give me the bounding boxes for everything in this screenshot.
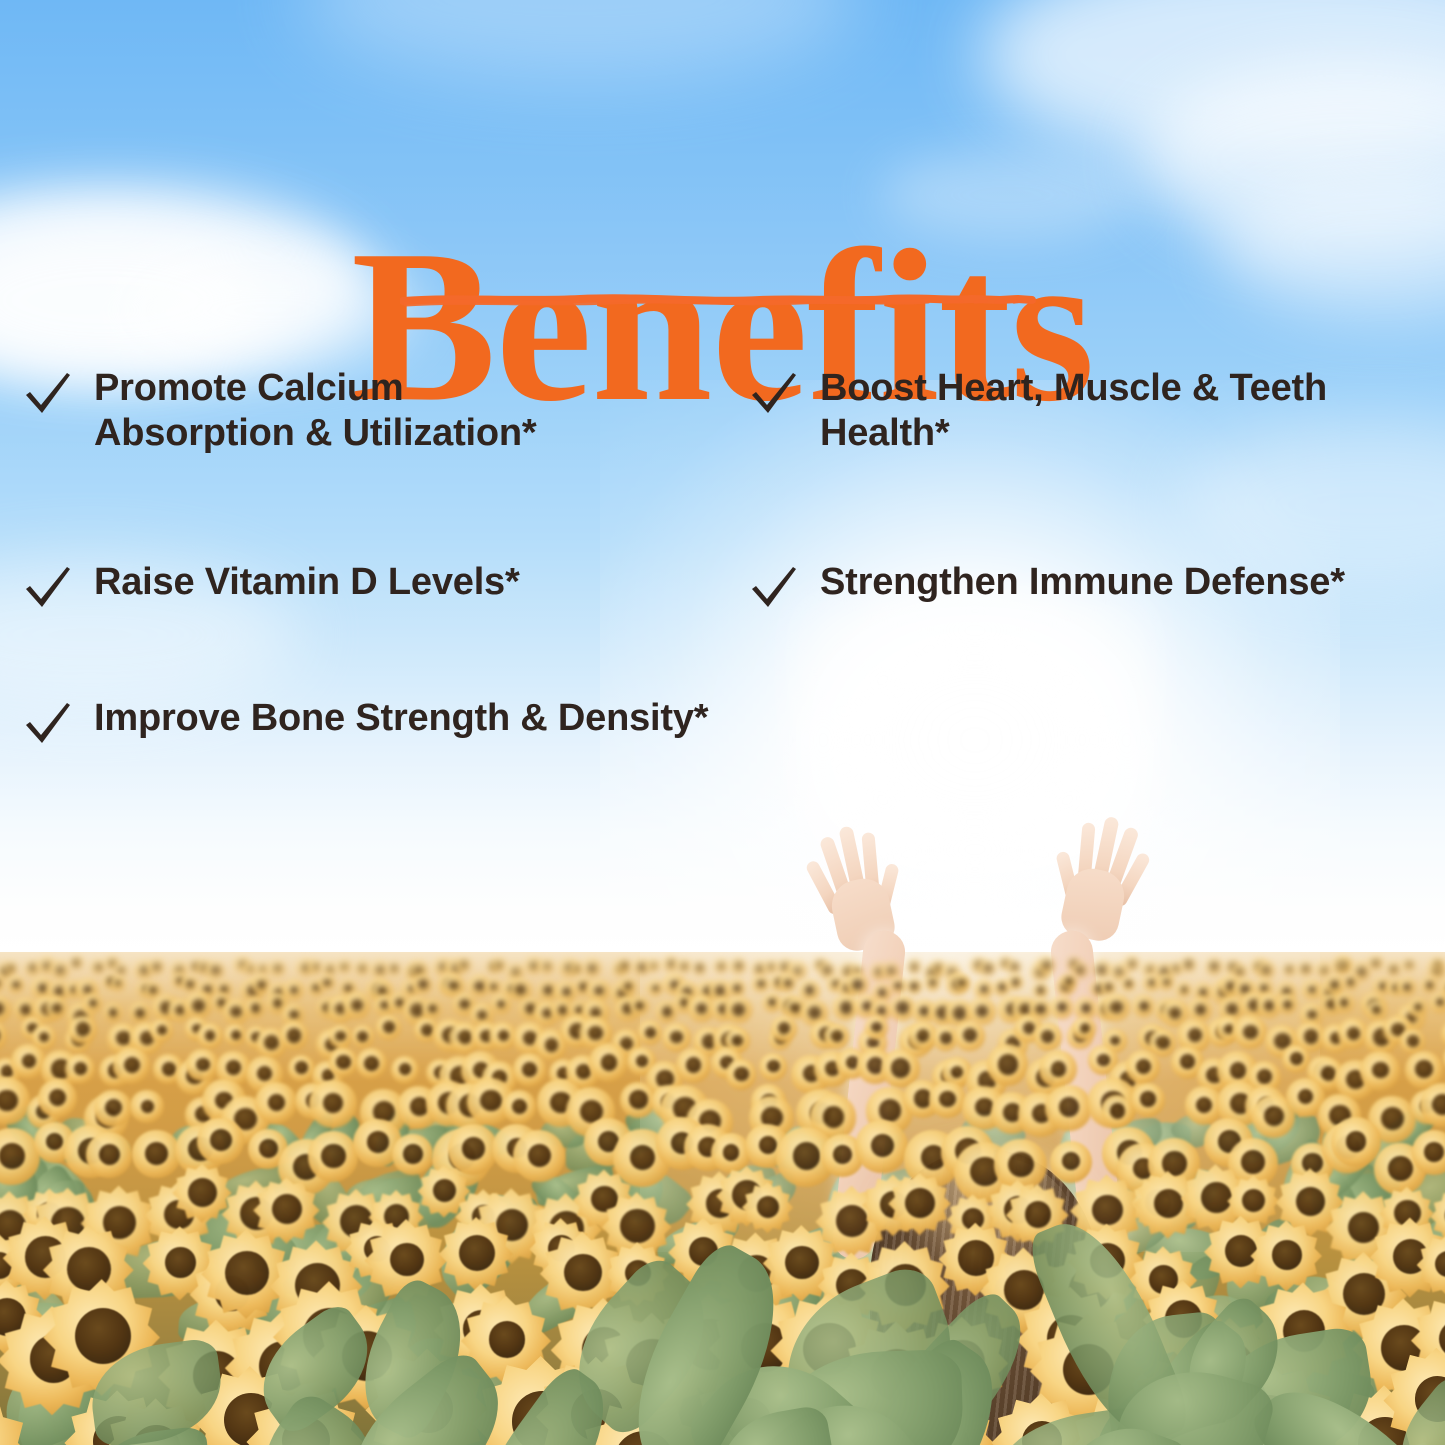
sunflower-center bbox=[887, 967, 894, 974]
sunflower-center bbox=[1340, 998, 1348, 1006]
sunflower-center bbox=[1304, 1029, 1318, 1043]
sunflower-center bbox=[871, 1022, 881, 1032]
sunflower bbox=[392, 1134, 433, 1175]
sunflower-center bbox=[1076, 966, 1083, 973]
sunflower bbox=[70, 956, 83, 969]
sunflower-center bbox=[1051, 1061, 1067, 1077]
cloud bbox=[300, 0, 860, 80]
sunflower-center bbox=[831, 1030, 843, 1042]
right-hand bbox=[1046, 800, 1155, 935]
sunflower bbox=[728, 979, 745, 996]
sunflower bbox=[308, 1131, 358, 1181]
sunflower bbox=[255, 1082, 297, 1124]
sunflower-center bbox=[109, 1008, 117, 1016]
sunflower-center bbox=[621, 962, 628, 969]
sunflower-center bbox=[910, 982, 918, 990]
sunflower bbox=[638, 1020, 662, 1044]
sunflower bbox=[759, 1053, 787, 1081]
sunflower-center bbox=[157, 1025, 167, 1035]
sunflower bbox=[987, 1044, 1028, 1085]
sunflower-center bbox=[415, 966, 422, 973]
sunflower bbox=[269, 961, 285, 977]
sunflower-center bbox=[1390, 966, 1397, 973]
sunflower-center bbox=[998, 983, 1006, 991]
sunflower-center bbox=[141, 1100, 154, 1113]
sunflower-center bbox=[680, 998, 688, 1006]
sunflower-center bbox=[1372, 1062, 1389, 1079]
sunflower-center bbox=[391, 965, 396, 970]
sunflower bbox=[1409, 998, 1427, 1016]
sunflower-center bbox=[1092, 1195, 1123, 1226]
sunflower bbox=[1158, 974, 1174, 990]
sunflower-center bbox=[1388, 1156, 1413, 1181]
sunflower bbox=[1181, 957, 1197, 973]
sunflower-center bbox=[498, 1030, 509, 1041]
sunflower bbox=[846, 973, 869, 996]
sunflower-center bbox=[953, 1006, 966, 1019]
sunflower-center bbox=[686, 1057, 701, 1072]
sunflower-center bbox=[998, 1054, 1019, 1075]
sunflower-center bbox=[620, 1209, 655, 1244]
sunflower bbox=[907, 959, 922, 974]
title-underline bbox=[400, 290, 1050, 310]
sunflower-center bbox=[601, 1054, 618, 1071]
sunflower bbox=[1093, 960, 1111, 978]
benefit-item-bone: Improve Bone Strength & Density* bbox=[22, 696, 922, 750]
sunflower bbox=[1045, 1085, 1091, 1131]
sunflower bbox=[630, 997, 649, 1016]
sunflower-center bbox=[1347, 978, 1354, 985]
sunflower-center bbox=[12, 981, 19, 988]
sunflower bbox=[1283, 963, 1296, 976]
sunflower bbox=[309, 960, 323, 974]
sunflower-center bbox=[1037, 986, 1045, 994]
sunflower-center bbox=[188, 1178, 217, 1207]
sunflower-center bbox=[376, 966, 383, 973]
sunflower-center bbox=[312, 984, 319, 991]
sunflower-center bbox=[891, 1058, 910, 1077]
sunflower-center bbox=[734, 1067, 748, 1081]
sunflower-center bbox=[645, 1027, 656, 1038]
sunflower-center bbox=[574, 966, 579, 971]
sunflower-center bbox=[1357, 967, 1366, 976]
sunflower bbox=[583, 959, 601, 977]
sunflower-center bbox=[757, 1196, 779, 1218]
sunflower-center bbox=[784, 979, 792, 987]
sunflower bbox=[94, 1090, 131, 1127]
sunflower-center bbox=[359, 965, 365, 971]
sunflower bbox=[693, 961, 707, 975]
sunflower-center bbox=[562, 987, 571, 996]
sunflower-center bbox=[840, 1001, 852, 1013]
sunflower bbox=[1337, 958, 1352, 973]
sunflower-center bbox=[418, 979, 428, 989]
sunflower-center bbox=[662, 1006, 672, 1016]
sunflower-center bbox=[1140, 1091, 1156, 1107]
sunflower-center bbox=[1080, 1023, 1090, 1033]
sunflower-center bbox=[733, 984, 741, 992]
sunflower-center bbox=[1180, 1054, 1195, 1069]
sunflower bbox=[1331, 1117, 1381, 1167]
sunflower-center bbox=[83, 985, 92, 994]
sunflower bbox=[1101, 1095, 1134, 1128]
sunflower-center bbox=[327, 966, 333, 972]
sunflower-center bbox=[99, 1144, 120, 1165]
sunflower-center bbox=[564, 1254, 601, 1291]
sunflower-center bbox=[149, 986, 157, 994]
benefit-label: Promote Calcium Absorption & Utilization… bbox=[94, 366, 537, 456]
sunflower-center bbox=[274, 965, 280, 971]
sunflower bbox=[513, 1130, 565, 1182]
sunflower-center bbox=[1199, 988, 1207, 996]
sunflower-center bbox=[225, 1251, 269, 1295]
sunflower-center bbox=[165, 1247, 196, 1278]
sunflower-center bbox=[980, 985, 988, 993]
sunflower-center bbox=[335, 1031, 346, 1042]
sunflower-center bbox=[1424, 1142, 1444, 1162]
sunflower-center bbox=[1264, 1000, 1275, 1011]
sunflower bbox=[503, 1090, 537, 1124]
sunflower-center bbox=[38, 983, 47, 992]
sunflower-center bbox=[1347, 1027, 1360, 1040]
sunflower bbox=[130, 1090, 163, 1123]
sunflower-center bbox=[8, 965, 14, 971]
sunflower-center bbox=[116, 1031, 131, 1046]
sunflower-center bbox=[203, 985, 212, 994]
sunflower bbox=[725, 997, 751, 1023]
sunflower bbox=[7, 976, 24, 993]
sunflower bbox=[46, 997, 67, 1018]
sunflower-center bbox=[367, 1131, 389, 1153]
sunflower-center bbox=[1379, 982, 1386, 989]
sunflower bbox=[1061, 973, 1076, 988]
sunflower bbox=[888, 1172, 951, 1235]
sunflower-center bbox=[1243, 1025, 1257, 1039]
sunflower bbox=[1387, 962, 1400, 975]
sunflower-center bbox=[287, 1028, 301, 1042]
sunflower-center bbox=[1011, 963, 1018, 970]
sunflower bbox=[906, 978, 922, 994]
sunflower-center bbox=[20, 1004, 31, 1015]
sunflower bbox=[309, 1080, 357, 1128]
sunflower-center bbox=[1283, 1000, 1292, 1009]
sunflower-center bbox=[1169, 1007, 1181, 1019]
benefits-graphic: Benefits Promote Calcium Absorption & Ut… bbox=[0, 0, 1445, 1445]
sunflower-center bbox=[268, 1094, 285, 1111]
sunflower-center bbox=[905, 1188, 935, 1218]
benefit-item-calcium: Promote Calcium Absorption & Utilization… bbox=[22, 366, 642, 456]
sunflower-center bbox=[364, 1056, 379, 1071]
sunflower-center bbox=[43, 962, 50, 969]
sunflower-center bbox=[919, 1006, 929, 1016]
sunflower bbox=[197, 1118, 243, 1164]
sunflower-center bbox=[462, 1137, 485, 1160]
sunflower-center bbox=[875, 968, 882, 975]
sunflower bbox=[1360, 1051, 1399, 1090]
sunflower-center bbox=[542, 1008, 552, 1018]
sunflower-center bbox=[1059, 1097, 1079, 1117]
sunflower bbox=[391, 1056, 419, 1084]
sunflower-center bbox=[879, 1099, 902, 1122]
sunflower-center bbox=[1372, 960, 1379, 967]
sunflower bbox=[197, 1023, 223, 1049]
sunflower bbox=[244, 963, 257, 976]
sunflower-center bbox=[257, 980, 266, 989]
sunflower-center bbox=[638, 963, 646, 971]
sunflower bbox=[1143, 975, 1160, 992]
sunflower bbox=[388, 962, 401, 975]
benefit-label: Raise Vitamin D Levels* bbox=[94, 560, 520, 605]
sunflower-center bbox=[421, 1024, 433, 1036]
sunflower bbox=[1402, 959, 1415, 972]
sunflower bbox=[507, 964, 524, 981]
sunflower-center bbox=[251, 1003, 260, 1012]
sunflower-center bbox=[162, 1062, 176, 1076]
sunflower-center bbox=[935, 964, 941, 970]
sunflower-center bbox=[395, 998, 404, 1007]
sunflower-center bbox=[871, 1134, 894, 1157]
sunflower bbox=[865, 1016, 888, 1039]
sunflower bbox=[676, 1048, 711, 1083]
sunflower-center bbox=[458, 1030, 472, 1044]
sunflower-center bbox=[1012, 978, 1020, 986]
benefit-label: Strengthen Immune Defense* bbox=[820, 560, 1345, 605]
sunflower bbox=[974, 979, 993, 998]
sunflower-center bbox=[192, 999, 205, 1012]
benefit-item-heart: Boost Heart, Muscle & Teeth Health* bbox=[748, 366, 1408, 456]
sunflower-center bbox=[56, 966, 64, 974]
sunflower-center bbox=[1163, 979, 1170, 986]
sunflower-center bbox=[790, 1003, 800, 1013]
sunflower-center bbox=[313, 964, 319, 970]
sunflower-center bbox=[474, 981, 484, 991]
sunflower-center bbox=[652, 985, 659, 992]
sunflower bbox=[979, 960, 996, 977]
sunflower-center bbox=[715, 985, 725, 995]
checkmark-icon bbox=[22, 562, 74, 614]
sunflower-center bbox=[54, 986, 64, 996]
sunflower-center bbox=[1081, 1003, 1091, 1013]
sunflower bbox=[83, 994, 102, 1013]
sunflower-center bbox=[852, 979, 863, 990]
sunflower bbox=[1430, 993, 1445, 1013]
sunflower-center bbox=[289, 1010, 299, 1020]
sunflower-center bbox=[186, 980, 193, 987]
sunflower-center bbox=[768, 964, 774, 970]
sunflower-center bbox=[976, 1005, 988, 1017]
sunflower bbox=[352, 1025, 374, 1047]
sunflower bbox=[1050, 996, 1072, 1018]
sunflower-center bbox=[1296, 1187, 1325, 1216]
sunflower-center bbox=[1008, 1152, 1033, 1177]
sunflower-center bbox=[1156, 1036, 1169, 1049]
sunflower bbox=[1131, 1083, 1165, 1117]
sunflower-center bbox=[940, 1032, 951, 1043]
sunflower-center bbox=[1262, 966, 1270, 974]
sunflower bbox=[1368, 956, 1382, 970]
sunflower-center bbox=[984, 964, 992, 972]
sunflower-center bbox=[74, 1062, 87, 1075]
sunflower-center bbox=[497, 1000, 505, 1008]
checkmark-icon bbox=[22, 698, 74, 750]
sunflower bbox=[423, 1000, 442, 1019]
sunflower-center bbox=[1097, 965, 1106, 974]
sunflower-center bbox=[459, 1235, 495, 1271]
sunflower-center bbox=[1025, 1201, 1051, 1227]
checkmark-icon bbox=[748, 562, 800, 614]
sunflower bbox=[356, 1048, 387, 1079]
sunflower-center bbox=[793, 1142, 821, 1170]
sunflower-center bbox=[823, 1106, 844, 1127]
sunflower bbox=[764, 960, 778, 974]
checkmark-icon bbox=[748, 368, 800, 420]
sunflower bbox=[1133, 995, 1154, 1016]
sunflower-center bbox=[273, 998, 282, 1007]
sunflower-center bbox=[231, 1030, 241, 1040]
sunflower-center bbox=[1139, 1001, 1149, 1011]
sunflower-center bbox=[629, 1090, 647, 1108]
checkmark-icon bbox=[22, 368, 74, 420]
sunflower-center bbox=[723, 1144, 740, 1161]
sunflower-center bbox=[911, 963, 918, 970]
sunflower bbox=[1102, 994, 1129, 1021]
sunflower-center bbox=[1426, 981, 1433, 988]
benefit-label: Boost Heart, Muscle & Teeth Health* bbox=[820, 366, 1327, 456]
sunflower-center bbox=[958, 979, 965, 986]
sunflower-center bbox=[1346, 1131, 1366, 1151]
sunflower-center bbox=[1307, 1010, 1317, 1020]
sunflower bbox=[1343, 975, 1358, 990]
sunflower bbox=[329, 1025, 352, 1048]
sunflower-center bbox=[877, 1006, 886, 1015]
sunflower bbox=[344, 992, 371, 1019]
sunflower bbox=[1431, 958, 1444, 971]
sunflower bbox=[319, 975, 335, 991]
sunflower bbox=[1033, 983, 1048, 998]
sunflower-center bbox=[1381, 1107, 1404, 1130]
sunflower-center bbox=[378, 986, 387, 995]
sunflower bbox=[752, 976, 769, 993]
sunflower-center bbox=[403, 1144, 423, 1164]
sunflower bbox=[513, 1053, 547, 1087]
sunflower bbox=[726, 1059, 757, 1090]
sunflower bbox=[150, 1019, 173, 1042]
sunflower-center bbox=[594, 986, 604, 996]
sunflower-center bbox=[696, 1003, 707, 1014]
sunflower-center bbox=[1272, 1240, 1301, 1269]
benefit-item-immune: Strengthen Immune Defense* bbox=[748, 560, 1428, 614]
sunflower-center bbox=[52, 1003, 62, 1013]
sunflower bbox=[824, 1024, 849, 1049]
sunflower-center bbox=[668, 960, 675, 967]
benefit-item-vitamind: Raise Vitamin D Levels* bbox=[22, 560, 642, 614]
sunflower-center bbox=[630, 1145, 655, 1170]
sunflower bbox=[540, 959, 555, 974]
sunflower-center bbox=[323, 979, 330, 986]
sunflower-center bbox=[1154, 1189, 1183, 1218]
sunflower-center bbox=[205, 1030, 216, 1041]
sunflower-center bbox=[95, 964, 102, 971]
sunflower bbox=[376, 1015, 401, 1040]
sunflower-center bbox=[1236, 968, 1243, 975]
sunflower-center bbox=[1035, 1004, 1045, 1014]
sunflower bbox=[779, 974, 796, 991]
sunflower-center bbox=[1372, 1006, 1380, 1014]
sunflower bbox=[185, 992, 211, 1018]
sunflower-center bbox=[321, 1144, 345, 1168]
sunflower bbox=[890, 977, 907, 994]
sunflower-center bbox=[1260, 984, 1268, 992]
sunflower-center bbox=[1415, 1060, 1433, 1078]
sunflower-center bbox=[75, 1308, 131, 1364]
sunflower-center bbox=[46, 1133, 63, 1150]
sunflower bbox=[1412, 1130, 1445, 1174]
sunflower-center bbox=[344, 984, 352, 992]
sky-background bbox=[0, 0, 1445, 960]
sunflower bbox=[86, 1132, 132, 1178]
sunflower-center bbox=[896, 1001, 909, 1014]
sunflower bbox=[288, 1055, 315, 1082]
sunflower bbox=[486, 979, 501, 994]
sunflower-center bbox=[767, 1060, 779, 1072]
sunflower-center bbox=[1302, 965, 1309, 972]
sunflower-center bbox=[449, 981, 458, 990]
sunflower-center bbox=[1057, 1002, 1067, 1012]
sunflower-center bbox=[196, 1058, 210, 1072]
sunflower-center bbox=[558, 1005, 568, 1015]
sunflower-center bbox=[1110, 1103, 1126, 1119]
sunflower bbox=[954, 975, 969, 990]
sunflower-center bbox=[1065, 977, 1073, 985]
sunflower bbox=[1050, 1141, 1093, 1184]
sunflower bbox=[925, 975, 940, 990]
sunflower bbox=[491, 994, 511, 1014]
sunflower-center bbox=[1264, 1106, 1284, 1126]
sunflower-center bbox=[489, 1321, 525, 1357]
sunflower bbox=[1325, 975, 1345, 995]
sunflower-center bbox=[670, 1031, 682, 1043]
sunflower-center bbox=[1110, 1001, 1123, 1014]
sunflower-center bbox=[1406, 962, 1412, 968]
sunflower-center bbox=[145, 1142, 168, 1165]
sunflower-center bbox=[588, 964, 595, 971]
sunflower bbox=[256, 963, 269, 976]
sunflower bbox=[1250, 1220, 1321, 1291]
sunflower-center bbox=[530, 962, 538, 970]
sunflower-center bbox=[0, 1143, 25, 1169]
sunflower-center bbox=[1321, 967, 1327, 973]
sunflower bbox=[355, 961, 369, 975]
sunflower bbox=[1366, 1000, 1387, 1021]
sunflower-center bbox=[390, 1243, 423, 1276]
sunflower bbox=[65, 1054, 95, 1084]
sunflower bbox=[589, 1043, 628, 1082]
sunflower bbox=[1298, 962, 1312, 976]
sunflower-center bbox=[878, 988, 887, 997]
sunflower bbox=[323, 962, 337, 976]
sunflower-center bbox=[545, 1038, 559, 1052]
left-hand bbox=[800, 810, 909, 945]
sunflower bbox=[68, 1016, 96, 1044]
sunflower-center bbox=[1042, 961, 1050, 969]
sunflower-center bbox=[109, 960, 115, 966]
sunflower-center bbox=[1407, 1035, 1418, 1046]
sunflower-center bbox=[220, 985, 228, 993]
sunflower-center bbox=[1129, 960, 1135, 966]
sunflower-center bbox=[153, 963, 160, 970]
sunflower-center bbox=[528, 1144, 551, 1167]
sunflower-center bbox=[515, 984, 526, 995]
